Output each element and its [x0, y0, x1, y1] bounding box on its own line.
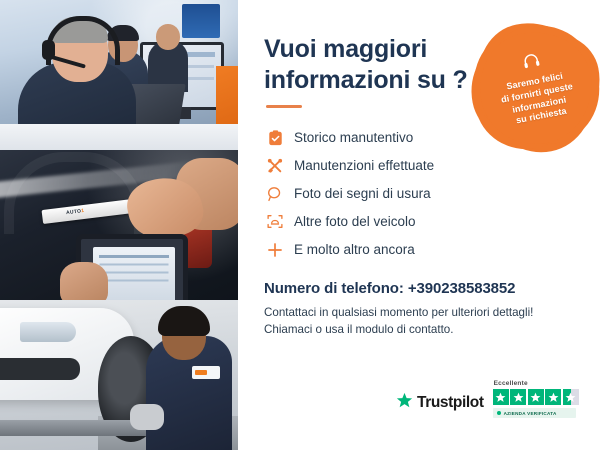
verified-company-label: AZIENDA VERIFICATA	[504, 411, 557, 416]
star-filled	[493, 389, 509, 405]
car-frame-icon	[264, 214, 286, 229]
mechanic-glove	[130, 404, 164, 430]
feature-item-wear-photos: Foto dei segni di usura	[264, 180, 576, 207]
plus-icon	[264, 242, 286, 258]
photo-mechanic-inspecting-white-car-on-lift	[0, 300, 238, 450]
star-filled	[545, 389, 561, 405]
trustpilot-star-rating	[493, 389, 579, 405]
trustpilot-wordmark: Trustpilot	[417, 394, 484, 412]
contact-instructions-line-1: Contattaci in qualsiasi momento per ulte…	[264, 304, 576, 321]
mechanic-hair	[158, 306, 210, 336]
wall-poster	[182, 4, 220, 38]
feature-item-more-vehicle-photos: Altre foto del veicolo	[264, 208, 576, 235]
request-info-badge: Saremo felici di fornirti queste informa…	[470, 22, 600, 153]
content-panel: Vuoi maggiori informazioni su ? Saremo f…	[238, 0, 600, 450]
mechanic-uniform-badge	[192, 366, 220, 379]
magnifier-icon	[264, 186, 286, 202]
verified-company-badge: AZIENDA VERIFICATA	[493, 408, 576, 418]
star-filled	[510, 389, 526, 405]
promo-banner: AUTO1 Vuoi maggiori	[0, 0, 600, 450]
ruler-brand-label: AUTO1	[66, 208, 85, 216]
contact-instructions-line-2: Chiamaci o usa il modulo di contatto.	[264, 321, 576, 338]
feature-item-maintenance-performed: Manutenzioni effettuate	[264, 152, 576, 179]
verified-check-icon	[497, 411, 502, 416]
feature-item-label: Storico manutentivo	[294, 130, 413, 145]
trustpilot-star-icon	[396, 392, 413, 414]
feature-item-label: Manutenzioni effettuate	[294, 158, 434, 173]
clipboard-check-icon	[264, 130, 286, 146]
background-colleague-2-head	[156, 24, 180, 50]
car-grille	[0, 358, 80, 380]
photo-column: AUTO1	[0, 0, 238, 450]
feature-item-label: E molto altro ancora	[294, 242, 415, 257]
trustpilot-rating-label: Eccellente	[494, 380, 528, 387]
trustpilot-widget[interactable]: Trustpilot Eccellente	[396, 380, 579, 418]
phone-line: Numero di telefono: +390238583852	[264, 280, 576, 297]
feature-item-much-more: E molto altro ancora	[264, 236, 576, 263]
vehicle-lift-arm	[0, 420, 150, 436]
page-title: Vuoi maggiori informazioni su ?	[264, 34, 479, 95]
tools-cross-icon	[264, 158, 286, 174]
photo-call-center-agents-with-headsets	[0, 0, 238, 150]
inspector-hand-lower	[60, 262, 108, 300]
phone-number[interactable]: +390238583852	[408, 280, 516, 297]
desk-surface	[0, 124, 238, 150]
photo-vehicle-bumper-inspection-with-tablet: AUTO1	[0, 150, 238, 300]
contact-instructions: Contattaci in qualsiasi momento per ulte…	[264, 304, 576, 339]
phone-label: Numero di telefono:	[264, 280, 404, 297]
star-partial	[563, 389, 579, 405]
feature-item-label: Foto dei segni di usura	[294, 186, 431, 201]
trustpilot-rating-block: Eccellente	[493, 380, 579, 418]
trustpilot-logo: Trustpilot	[396, 392, 484, 418]
feature-item-label: Altre foto del veicolo	[294, 214, 416, 229]
star-filled	[528, 389, 544, 405]
title-underline-rule	[266, 105, 302, 108]
car-headlight	[20, 322, 76, 342]
